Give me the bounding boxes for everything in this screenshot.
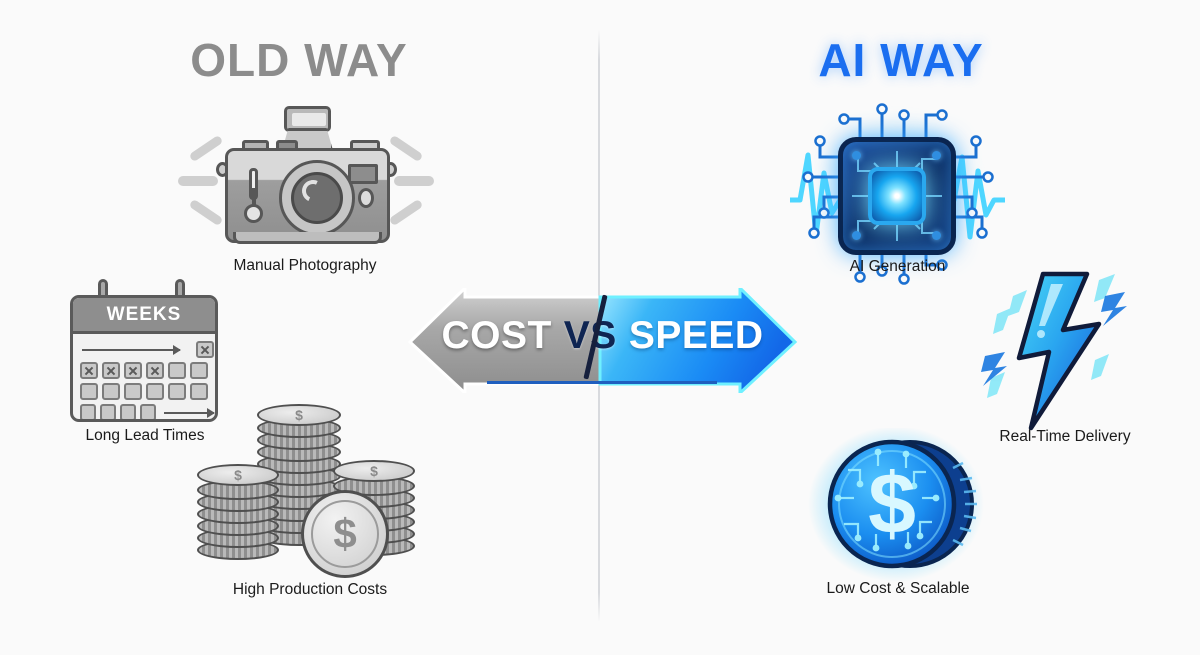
left-arrow-shape (410, 288, 605, 393)
list-item-ai-generation: AI Generation (790, 95, 1005, 285)
coin-symbol: $ (234, 467, 242, 483)
coin-symbol: $ (370, 463, 378, 479)
page-title-old-way: OLD WAY (0, 33, 598, 87)
calendar-row (80, 383, 214, 400)
list-item-low-cost-scalable: $ Low Cost & Scalable (808, 428, 988, 608)
page-title-ai-way: AI WAY (602, 33, 1200, 87)
calendar-row (80, 341, 214, 358)
infographic-canvas: OLD WAY AI WAY (0, 0, 1200, 655)
list-item-high-production-costs: $ $ $ $ High Production Costs (195, 398, 425, 608)
calendar-row (80, 404, 214, 421)
list-item-manual-photography: Manual Photography (180, 100, 430, 285)
list-item-real-time-delivery: Real-Time Delivery (975, 268, 1155, 458)
caption-low-cost-scalable: Low Cost & Scalable (808, 580, 988, 598)
lightning-bolt-icon (975, 268, 1155, 433)
calendar-arrow-icon (82, 349, 180, 351)
coin-symbol: $ (333, 513, 356, 555)
caption-high-production-costs: High Production Costs (195, 581, 425, 599)
cost-vs-speed-banner: COST VS SPEED (405, 288, 800, 393)
right-arrow-shape (600, 288, 795, 393)
banner-underline (487, 381, 717, 384)
digital-coin-icon: $ (808, 428, 988, 583)
calendar-header-label: WEEKS (73, 298, 215, 334)
caption-real-time-delivery: Real-Time Delivery (975, 428, 1155, 446)
coin-symbol: $ (295, 407, 303, 423)
coin-symbol: $ (868, 456, 916, 552)
caption-ai-generation: AI Generation (790, 258, 1005, 276)
coin-face-icon: $ (301, 490, 389, 578)
caption-manual-photography: Manual Photography (180, 257, 430, 275)
calendar-row (80, 362, 214, 379)
